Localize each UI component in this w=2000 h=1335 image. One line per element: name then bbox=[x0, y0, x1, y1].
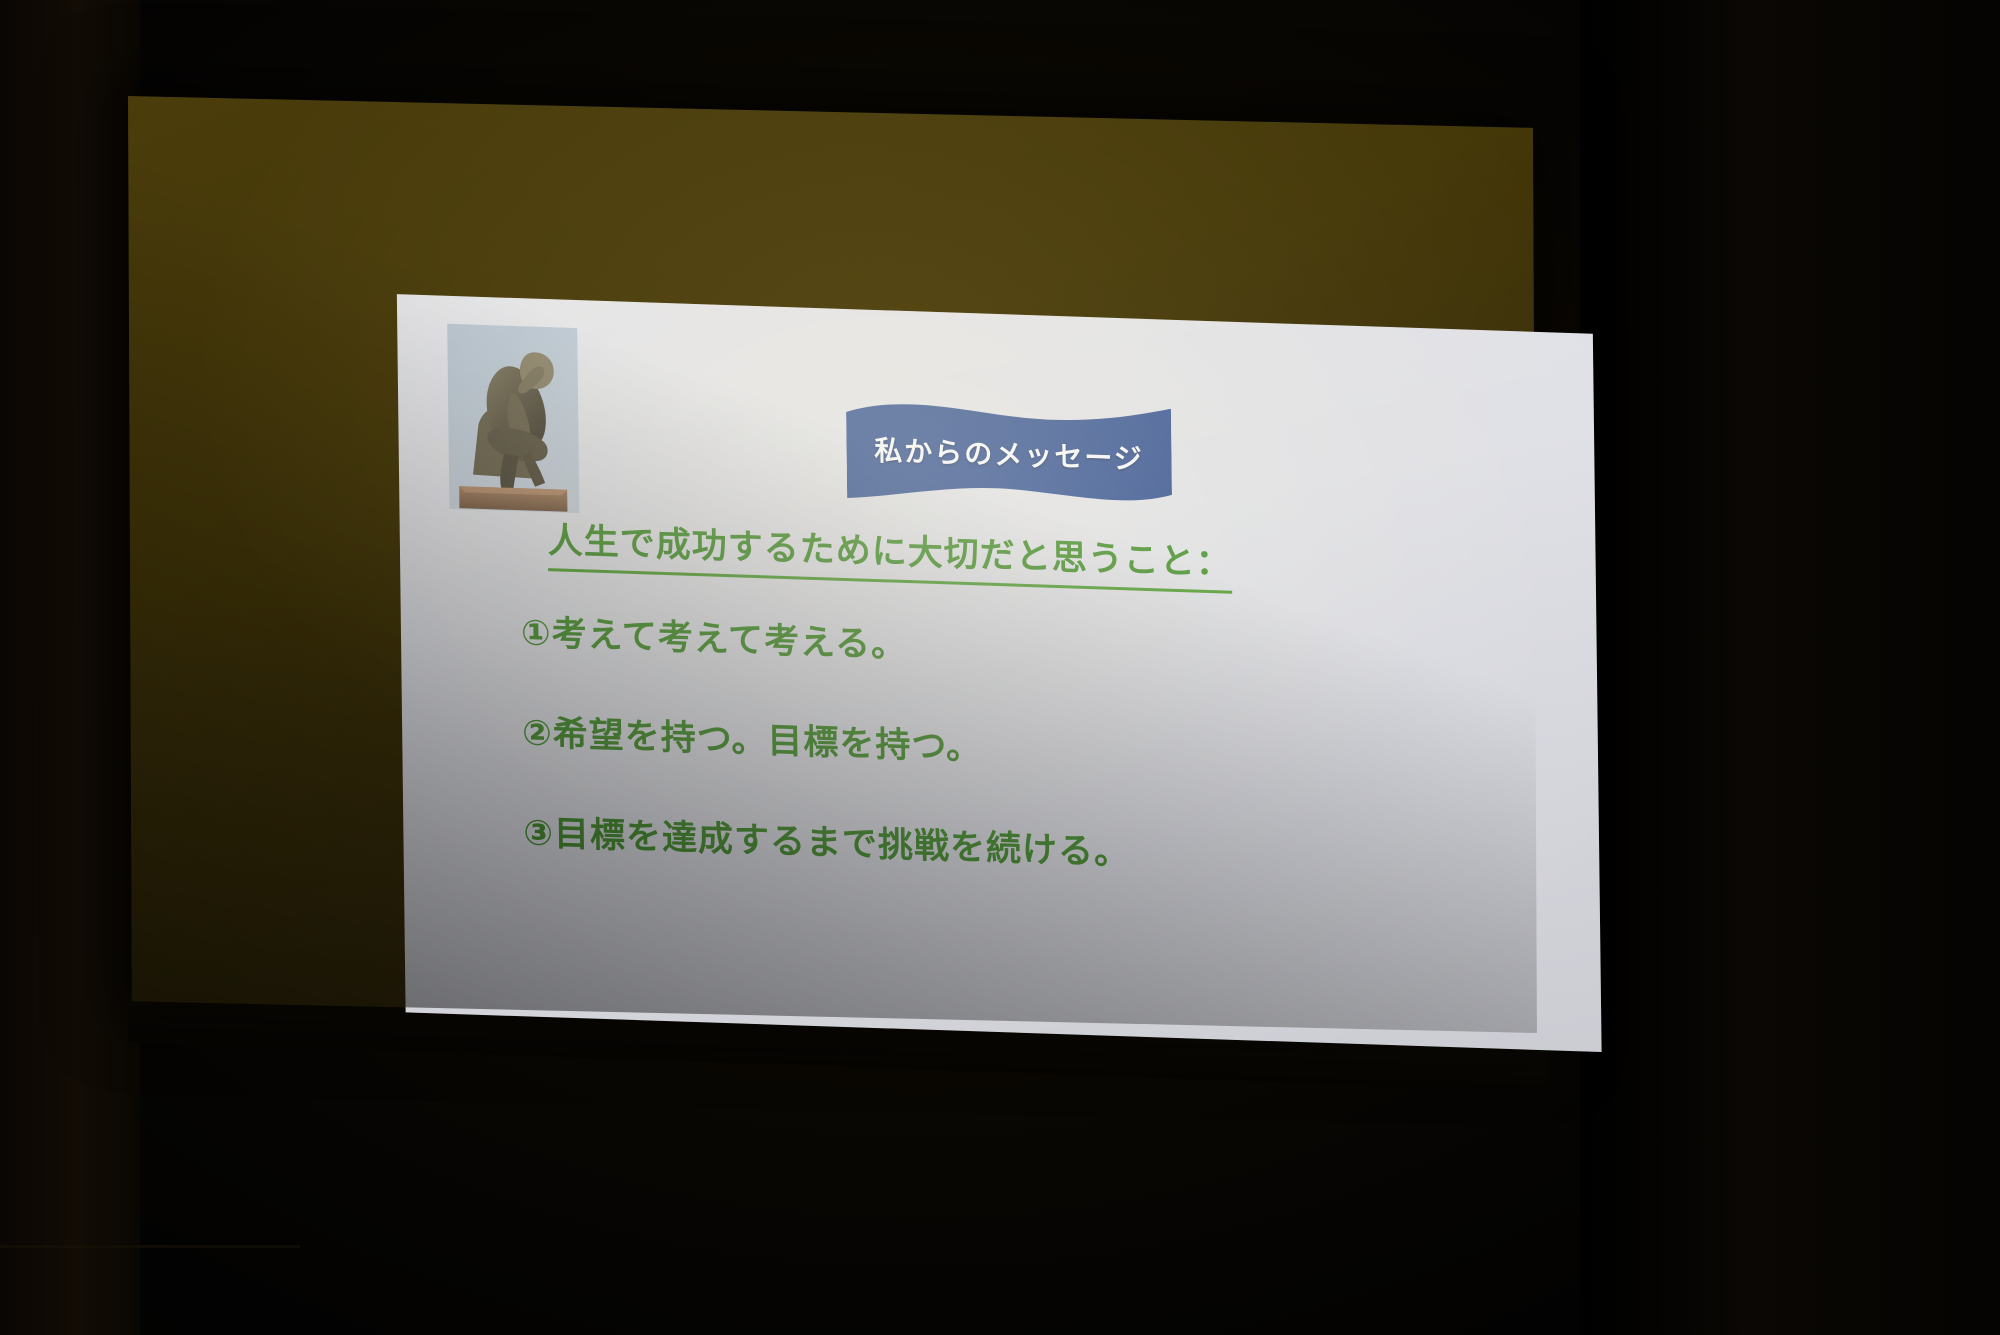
room-wall-left bbox=[0, 0, 140, 1335]
slide-heading: 人生で成功するために大切だと思うこと： bbox=[547, 512, 1232, 594]
auditorium-photo: 私からのメッセージ 人生で成功するために大切だと思うこと： ①考えて考えて考える… bbox=[0, 0, 2000, 1335]
projection-screen-frame: 私からのメッセージ 人生で成功するために大切だと思うこと： ①考えて考えて考える… bbox=[128, 96, 1537, 1033]
room-floor-line bbox=[0, 1245, 300, 1248]
bullet-item-2: ②希望を持つ。目標を持つ。 bbox=[522, 704, 982, 770]
bullet-item-3: ③目標を達成するまで挑戦を続ける。 bbox=[523, 804, 1130, 875]
presentation-slide: 私からのメッセージ 人生で成功するために大切だと思うこと： ①考えて考えて考える… bbox=[397, 294, 1602, 1052]
room-wall-right bbox=[1580, 0, 2000, 1335]
bullet-item-1: ①考えて考えて考える。 bbox=[521, 604, 908, 668]
message-banner: 私からのメッセージ bbox=[846, 398, 1172, 513]
the-thinker-statue-image bbox=[447, 324, 579, 513]
